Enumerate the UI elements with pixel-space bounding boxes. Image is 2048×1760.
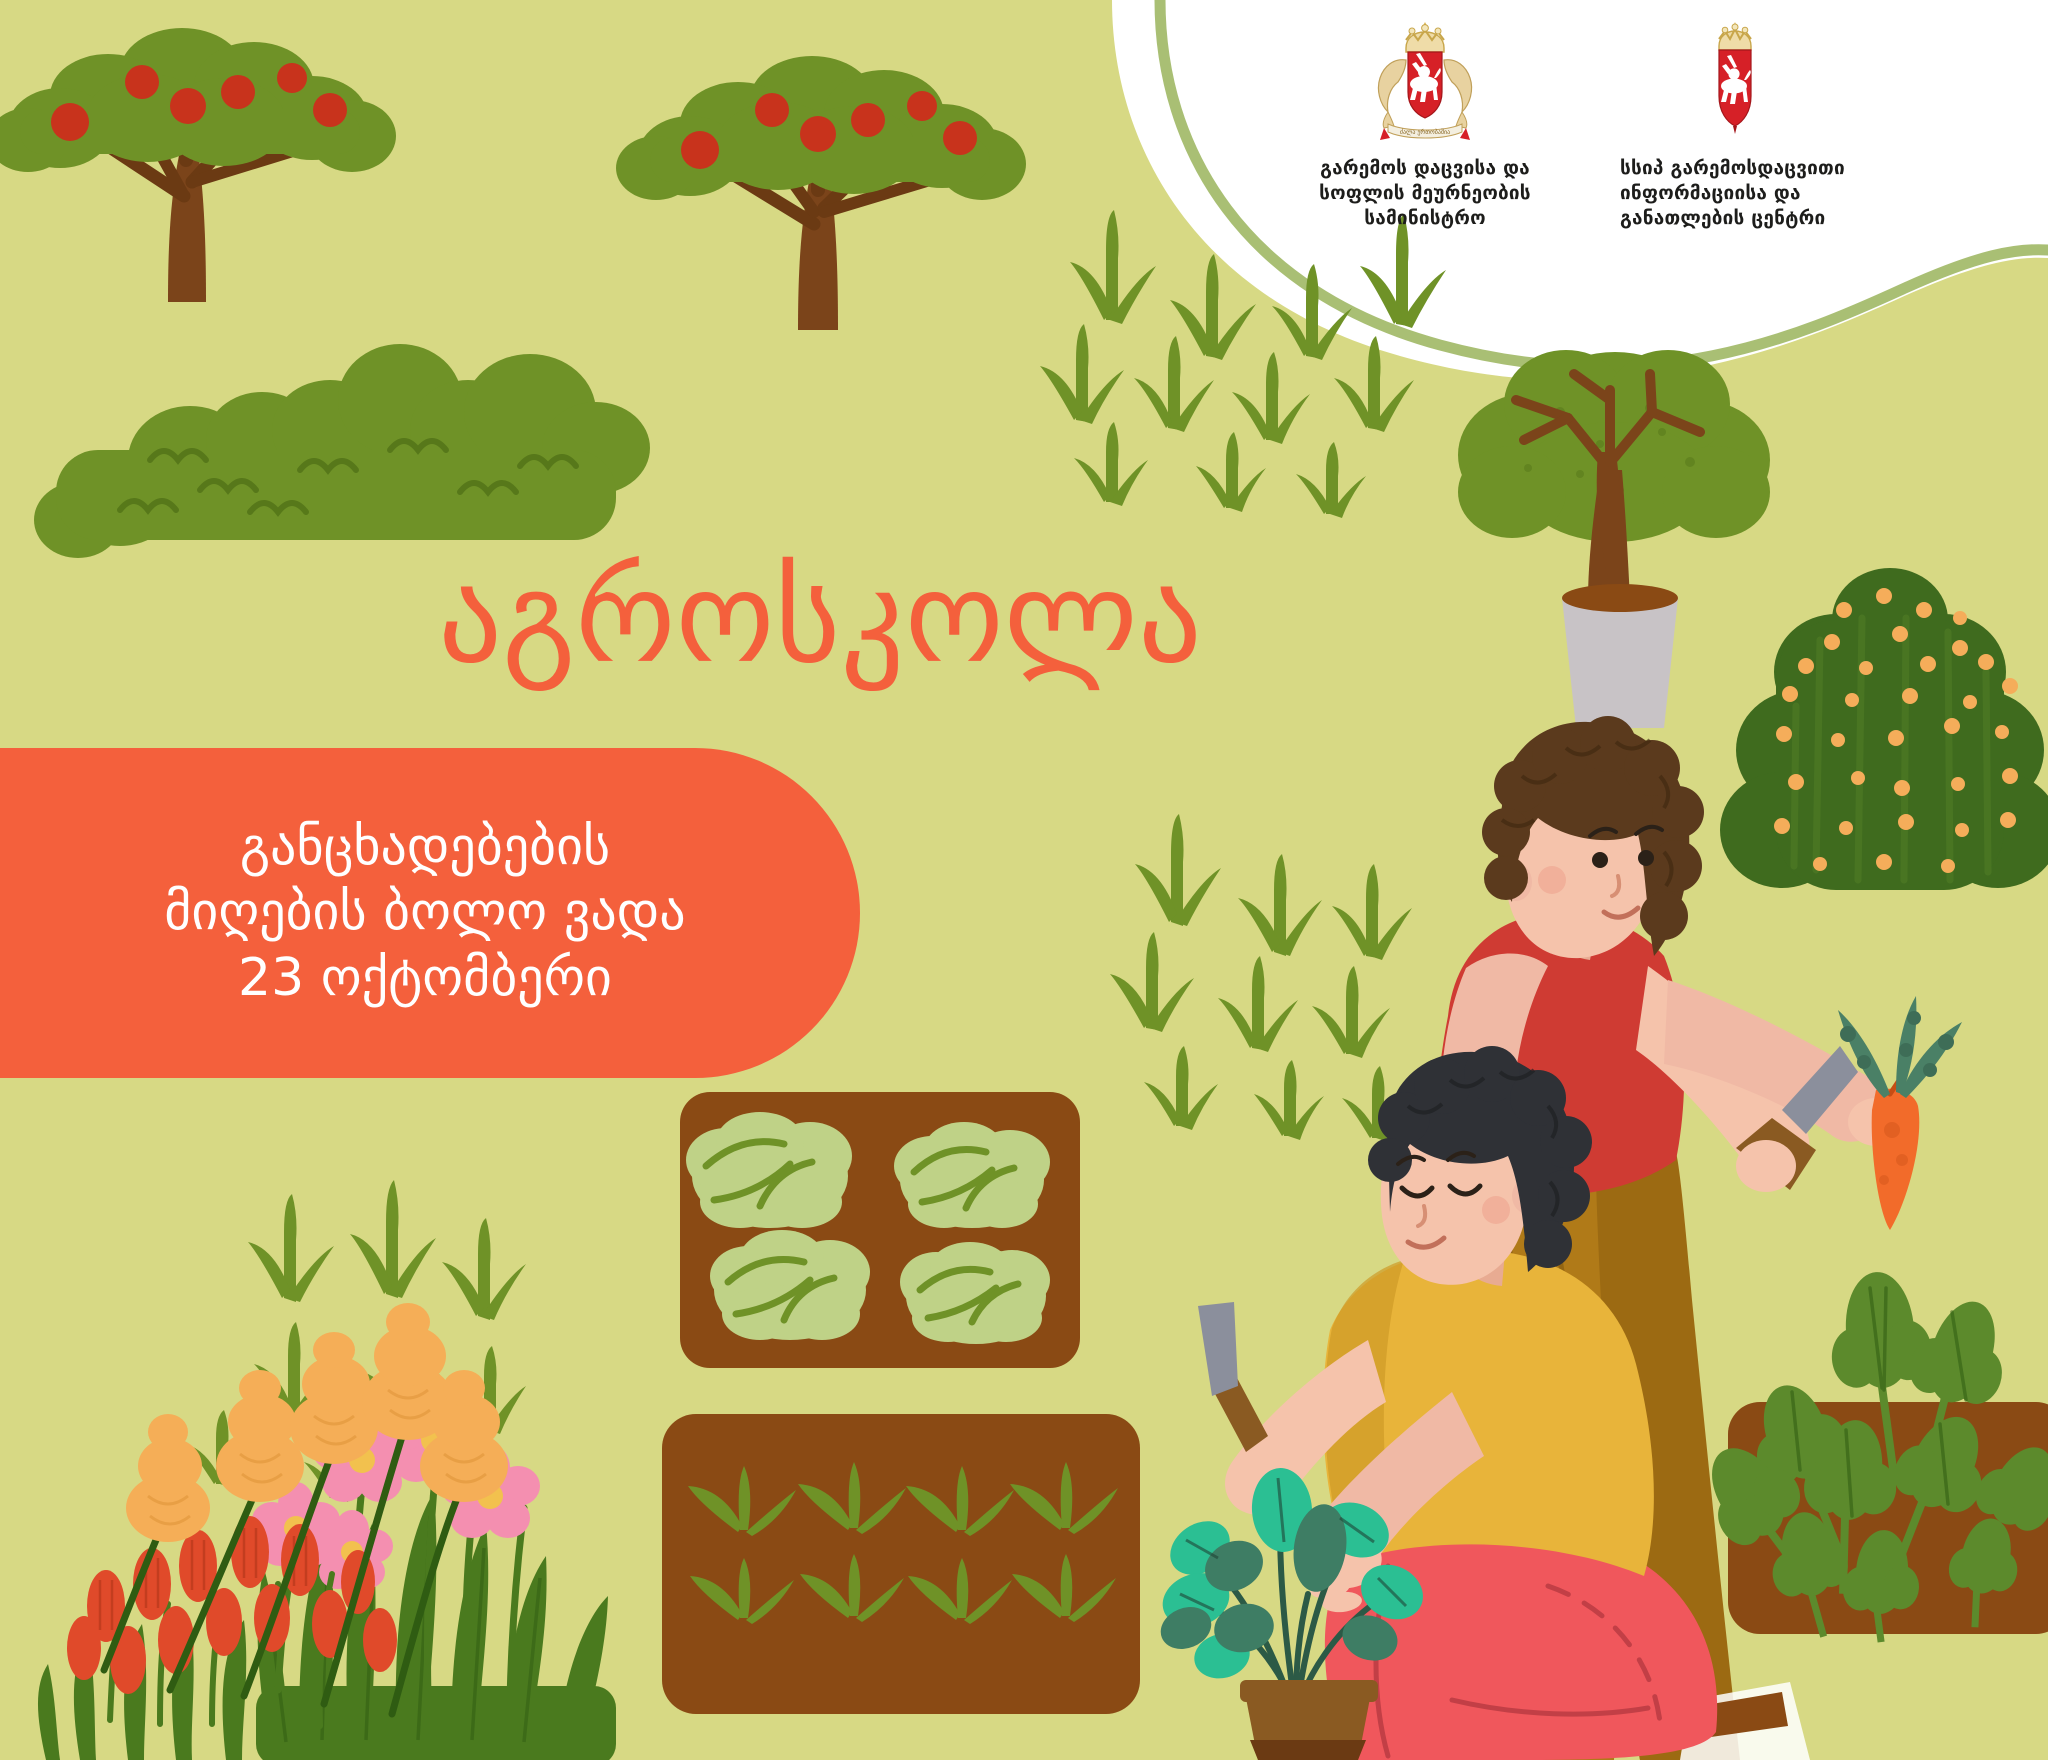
georgia-state-coat-of-arms-icon: ძალა ერთობაშია: [1366, 18, 1484, 146]
logo-ministry: ძალა ერთობაშია გარემოს დაცვისა და სოფლის…: [1300, 18, 1550, 231]
seedling-bed: [662, 1414, 1140, 1714]
logo-center: სსიპ გარემოსდაცვითი ინფორმაციისა და განა…: [1620, 18, 1850, 231]
logo-center-caption: სსიპ გარემოსდაცვითი ინფორმაციისა და განა…: [1620, 156, 1850, 231]
georgia-small-coat-of-arms-icon: [1699, 18, 1771, 146]
deadline-banner: განცხადებების მიღების ბოლო ვადა 23 ოქტომ…: [0, 748, 860, 1078]
deadline-banner-text: განცხადებების მიღების ბოლო ვადა 23 ოქტომ…: [74, 815, 745, 1012]
cabbage-bed: [680, 1092, 1080, 1368]
poster-canvas: ძალა ერთობაშია გარემოს დაცვისა და სოფლის…: [0, 0, 2048, 1760]
svg-text:ძალა ერთობაშია: ძალა ერთობაშია: [1400, 129, 1450, 136]
logo-ministry-caption: გარემოს დაცვისა და სოფლის მეურნეობის სამ…: [1300, 156, 1550, 231]
page-title: აგროსკოლა: [0, 555, 1640, 681]
header-logos: ძალა ერთობაშია გარემოს დაცვისა და სოფლის…: [1300, 18, 1850, 231]
